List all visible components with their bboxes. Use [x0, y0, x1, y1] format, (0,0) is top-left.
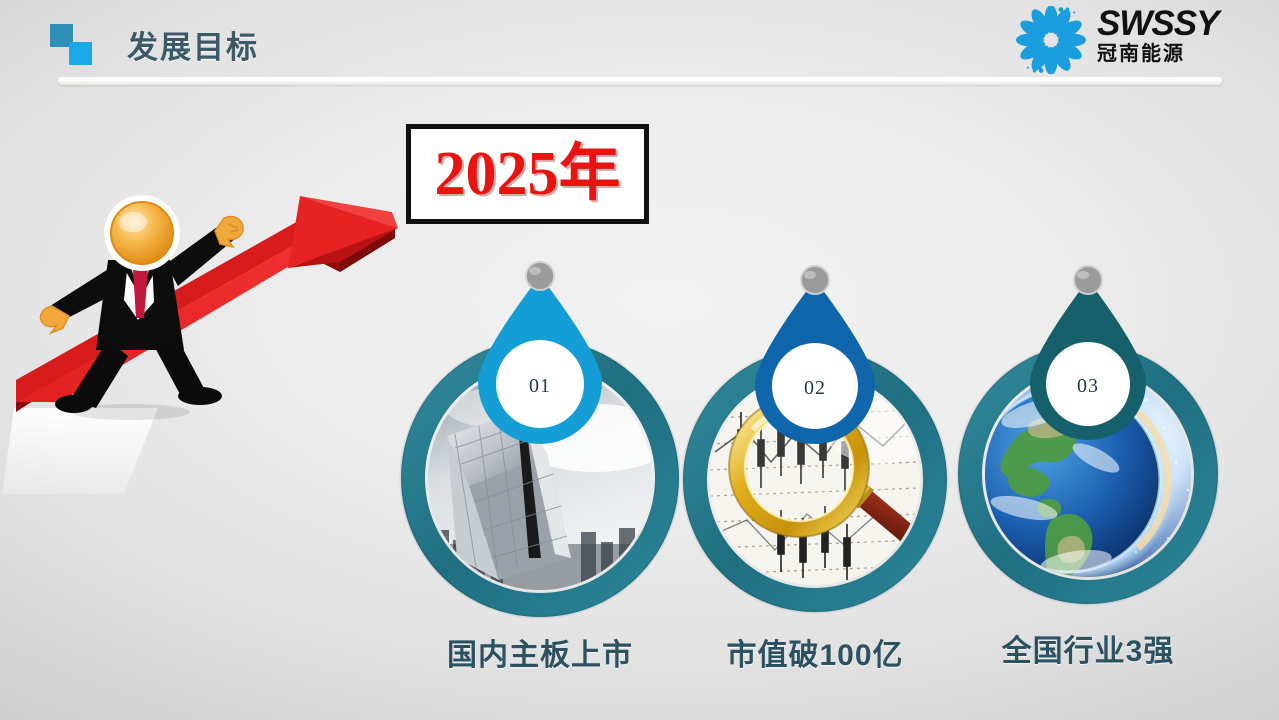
goal-01-number: 01 [395, 375, 685, 398]
slide-canvas: 发展目标 [0, 0, 1279, 720]
page-title: 发展目标 [127, 22, 259, 67]
title-decoration-squares [50, 24, 106, 66]
slide-header: 发展目标 [0, 0, 1279, 86]
goal-item-01[interactable]: 01 国内主板上市 [395, 258, 685, 668]
goal-03-caption: 全国行业3强 [950, 626, 1226, 670]
goal-item-03[interactable]: 03 全国行业3强 [950, 262, 1226, 672]
goal-02-graphic: 02 [675, 262, 955, 637]
company-logo: SWSSY 冠南能源 [1011, 4, 1261, 76]
goal-02-number: 02 [675, 377, 955, 400]
goal-01-graphic: 01 [395, 258, 685, 633]
goal-03-graphic: 03 [950, 262, 1226, 637]
header-divider [58, 77, 1222, 85]
year-label: 2025年 [434, 143, 620, 205]
businessman-on-rising-red-arrow [0, 150, 420, 550]
square-light-icon [69, 42, 92, 65]
logo-brand-name-cn: 冠南能源 [1097, 44, 1261, 64]
goal-01-caption: 国内主板上市 [395, 630, 685, 674]
goal-item-02[interactable]: 02 市值破100亿 [675, 262, 955, 672]
logo-brand-name: SWSSY [1097, 6, 1261, 41]
goal-02-caption: 市值破100亿 [675, 630, 955, 674]
swssy-flower-logo-icon [1011, 6, 1091, 74]
logo-wordmark: SWSSY 冠南能源 [1097, 6, 1261, 64]
year-highlight-box: 2025年 [406, 124, 649, 224]
goal-03-number: 03 [950, 375, 1226, 398]
